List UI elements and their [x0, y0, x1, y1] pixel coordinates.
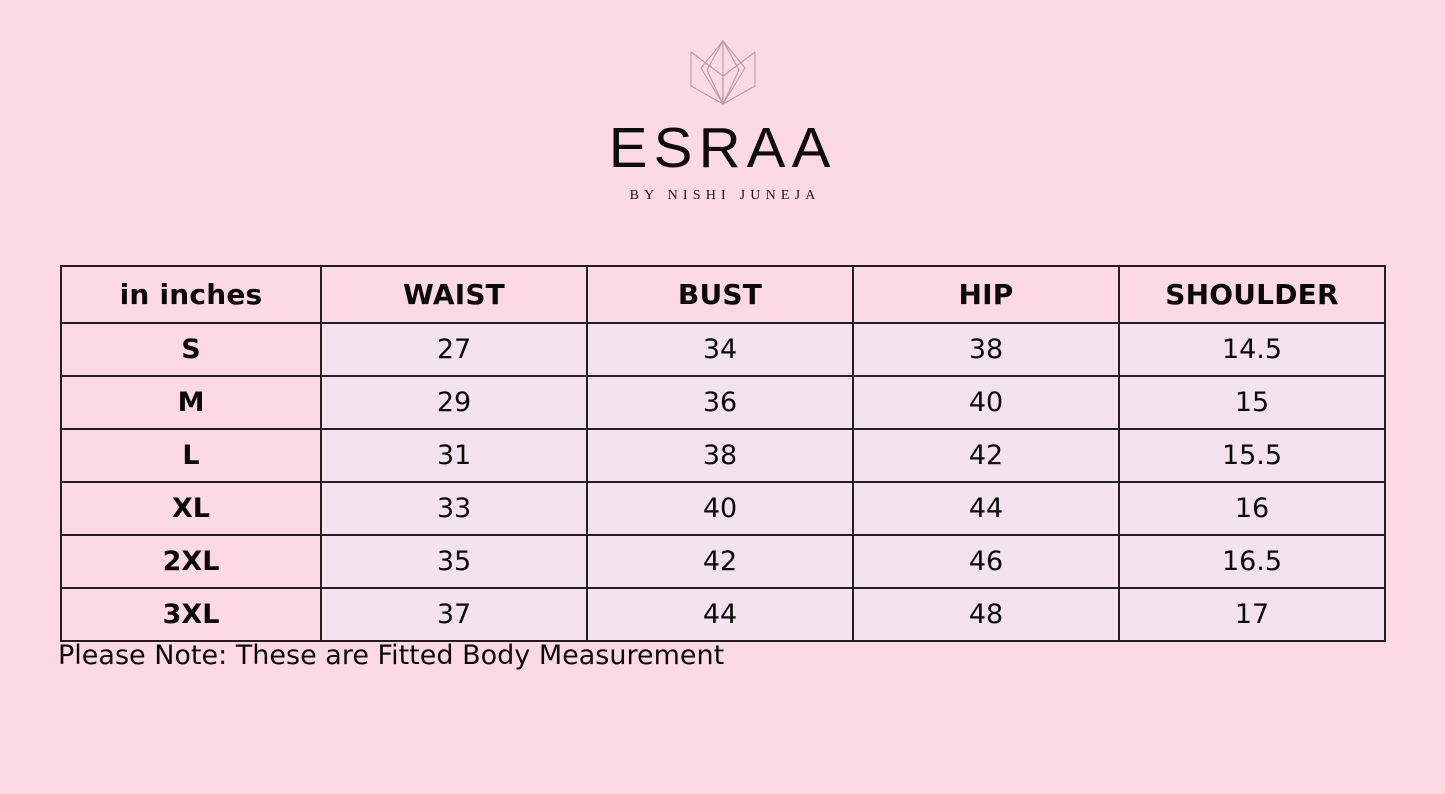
shoulder-value: 15	[1119, 376, 1385, 429]
bust-value: 34	[587, 323, 853, 376]
column-header-bust: BUST	[587, 266, 853, 323]
hip-value: 42	[853, 429, 1119, 482]
hip-value: 38	[853, 323, 1119, 376]
bust-value: 40	[587, 482, 853, 535]
shoulder-value: 16.5	[1119, 535, 1385, 588]
size-label: M	[61, 376, 321, 429]
waist-value: 27	[321, 323, 587, 376]
waist-value: 35	[321, 535, 587, 588]
shoulder-value: 14.5	[1119, 323, 1385, 376]
table-header: in inches WAIST BUST HIP SHOULDER	[61, 266, 1385, 323]
lotus-monogram-icon	[685, 38, 761, 106]
brand-header: ESRAA BY NISHI JUNEJA	[0, 38, 1445, 203]
column-header-shoulder: SHOULDER	[1119, 266, 1385, 323]
shoulder-value: 16	[1119, 482, 1385, 535]
hip-value: 40	[853, 376, 1119, 429]
table-row: 3XL 37 44 48 17	[61, 588, 1385, 641]
measurement-note: Please Note: These are Fitted Body Measu…	[58, 640, 724, 672]
waist-value: 29	[321, 376, 587, 429]
size-label: S	[61, 323, 321, 376]
column-header-size: in inches	[61, 266, 321, 323]
waist-value: 37	[321, 588, 587, 641]
table-header-row: in inches WAIST BUST HIP SHOULDER	[61, 266, 1385, 323]
bust-value: 36	[587, 376, 853, 429]
bust-value: 42	[587, 535, 853, 588]
size-label: L	[61, 429, 321, 482]
hip-value: 48	[853, 588, 1119, 641]
size-label: 2XL	[61, 535, 321, 588]
size-chart-page: ESRAA BY NISHI JUNEJA in inches WAIST BU…	[0, 0, 1445, 794]
column-header-waist: WAIST	[321, 266, 587, 323]
size-chart-table: in inches WAIST BUST HIP SHOULDER S 27 3…	[60, 265, 1386, 642]
size-label: 3XL	[61, 588, 321, 641]
bust-value: 38	[587, 429, 853, 482]
table-row: M 29 36 40 15	[61, 376, 1385, 429]
size-label: XL	[61, 482, 321, 535]
table-row: XL 33 40 44 16	[61, 482, 1385, 535]
shoulder-value: 17	[1119, 588, 1385, 641]
waist-value: 33	[321, 482, 587, 535]
table-row: L 31 38 42 15.5	[61, 429, 1385, 482]
hip-value: 46	[853, 535, 1119, 588]
table-row: 2XL 35 42 46 16.5	[61, 535, 1385, 588]
hip-value: 44	[853, 482, 1119, 535]
bust-value: 44	[587, 588, 853, 641]
table-row: S 27 34 38 14.5	[61, 323, 1385, 376]
waist-value: 31	[321, 429, 587, 482]
size-table-container: in inches WAIST BUST HIP SHOULDER S 27 3…	[60, 265, 1384, 642]
shoulder-value: 15.5	[1119, 429, 1385, 482]
table-body: S 27 34 38 14.5 M 29 36 40 15 L 31 38	[61, 323, 1385, 641]
column-header-hip: HIP	[853, 266, 1119, 323]
brand-tagline: BY NISHI JUNEJA	[624, 189, 820, 203]
brand-name: ESRAA	[609, 120, 837, 177]
